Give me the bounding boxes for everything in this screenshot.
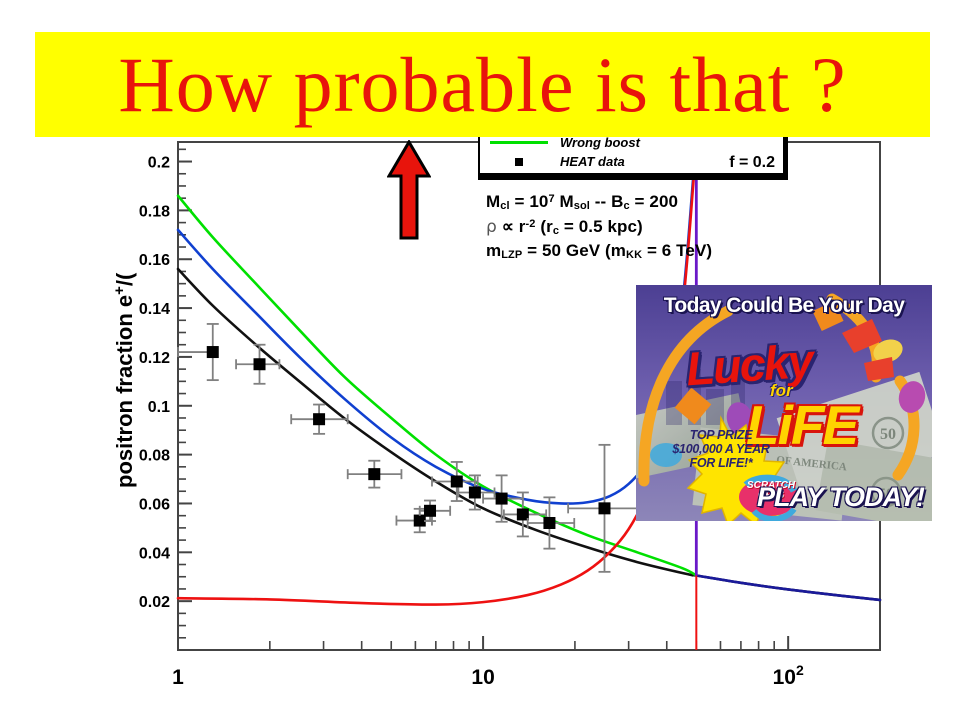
legend-label-wrong-boost: Wrong boost — [560, 135, 640, 150]
x-tick-label: 1 — [172, 666, 184, 688]
legend-label-heat-data: HEAT data — [560, 154, 625, 169]
svg-text:50: 50 — [880, 426, 896, 443]
y-tick-label: 0.02 — [139, 594, 170, 611]
ad-headline: Today Could Be Your Day — [636, 294, 932, 318]
chart-series-line — [696, 576, 880, 600]
title-banner: How probable is that ? — [35, 32, 930, 137]
y-tick-label: 0.08 — [139, 448, 170, 465]
page-title: How probable is that ? — [118, 46, 846, 124]
legend-entry-heat-data: HEAT data — [488, 153, 625, 170]
y-tick-label: 0.18 — [139, 203, 170, 220]
y-tick-label: 0.06 — [139, 496, 170, 513]
x-tick-label: 10 — [471, 666, 494, 688]
ad-call-to-action: PLAY TODAY! — [757, 482, 924, 513]
ad-prize-burst-text: TOP PRIZE $100,000 A YEAR FOR LIFE!* — [666, 428, 776, 470]
y-tick-label: 0.04 — [139, 545, 170, 562]
x-tick-label: 102 — [773, 662, 804, 688]
ad-brand-lucky: Lucky — [684, 333, 813, 397]
y-tick-label: 0.1 — [148, 399, 170, 416]
y-tick-label: 0.2 — [148, 155, 170, 172]
lottery-advertisement-image: 50 50 OF AMERICA — [636, 285, 932, 521]
data-point-with-errorbars — [291, 405, 348, 434]
legend-key-wrong-boost-line — [488, 141, 550, 144]
chart-series-line — [178, 196, 696, 576]
y-tick-label: 0.14 — [139, 301, 170, 318]
red-up-arrow-icon — [387, 140, 431, 240]
legend-key-heat-marker — [488, 158, 550, 166]
y-tick-label: 0.16 — [139, 252, 170, 269]
y-axis-title: positron fraction e+/( — [111, 272, 137, 488]
data-point-with-errorbars — [348, 461, 402, 488]
chart-series-line — [178, 149, 696, 604]
y-tick-label: 0.12 — [139, 350, 170, 367]
slide-canvas: 0.020.040.060.080.10.120.140.160.180.211… — [0, 0, 960, 720]
data-point-with-errorbars — [236, 345, 279, 384]
legend-f-value: f = 0.2 — [729, 154, 775, 172]
chart-series-line — [178, 149, 696, 503]
